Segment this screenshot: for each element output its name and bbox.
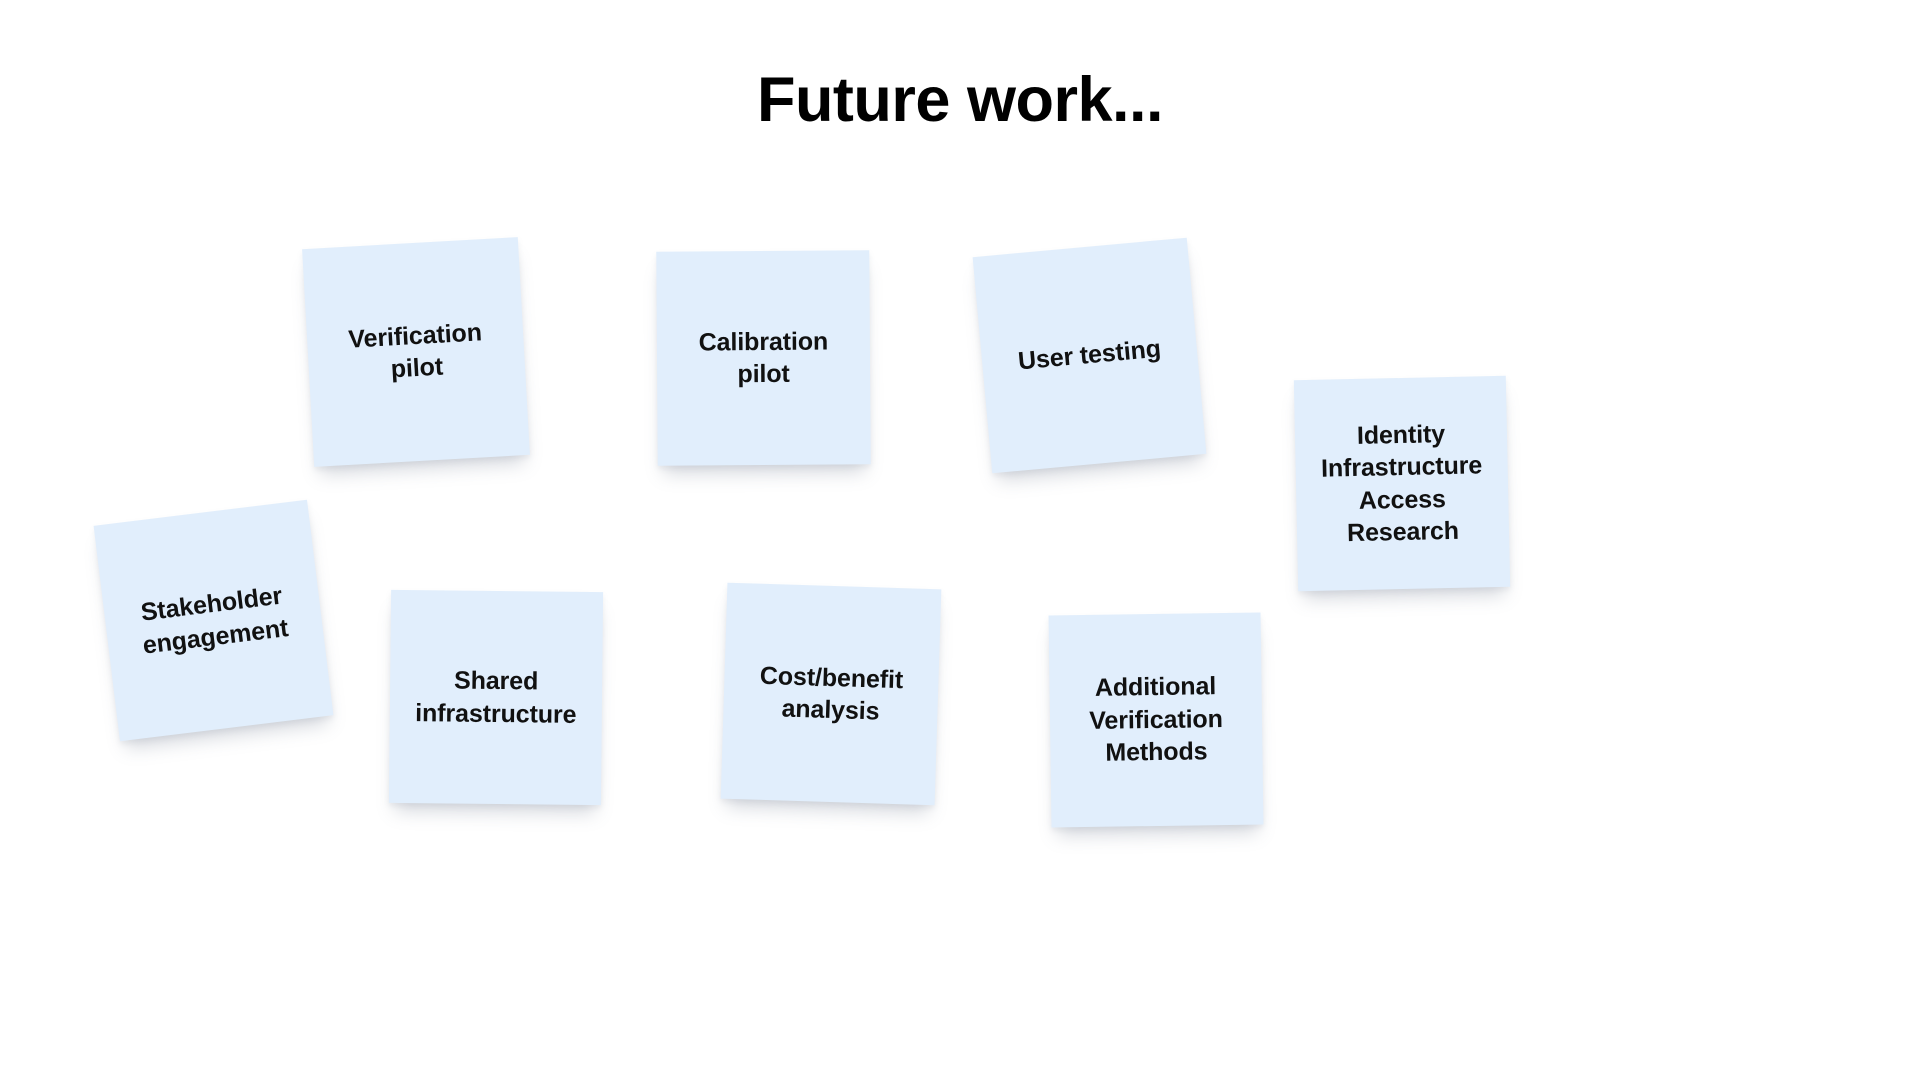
sticky-note-stakeholder-engagement[interactable]: Stakeholder engagement: [94, 500, 334, 742]
sticky-note-user-testing[interactable]: User testing: [973, 238, 1207, 474]
sticky-note-label: Calibration pilot: [673, 325, 854, 391]
sticky-note-identity-infrastructure-access-research[interactable]: Identity Infrastructure Access Research: [1294, 376, 1510, 591]
sticky-note-label: User testing: [1017, 333, 1163, 378]
sticky-note-cost-benefit-analysis[interactable]: Cost/benefit analysis: [721, 583, 942, 806]
sticky-note-label: Verification pilot: [322, 314, 509, 389]
sticky-note-label: Identity Infrastructure Access Research: [1311, 417, 1494, 551]
sticky-note-additional-verification-methods[interactable]: Additional Verification Methods: [1049, 613, 1264, 828]
sticky-note-verification-pilot[interactable]: Verification pilot: [302, 237, 530, 467]
sticky-note-shared-infrastructure[interactable]: Shared infrastructure: [389, 590, 603, 805]
page-title: Future work...: [0, 64, 1920, 136]
sticky-note-calibration-pilot[interactable]: Calibration pilot: [656, 250, 870, 465]
sticky-note-label: Shared infrastructure: [415, 664, 577, 731]
sticky-note-board: Future work... Verification pilotCalibra…: [0, 0, 1920, 1080]
sticky-note-label: Additional Verification Methods: [1089, 670, 1224, 769]
sticky-note-label: Stakeholder engagement: [137, 579, 290, 661]
sticky-note-label: Cost/benefit analysis: [758, 659, 903, 728]
